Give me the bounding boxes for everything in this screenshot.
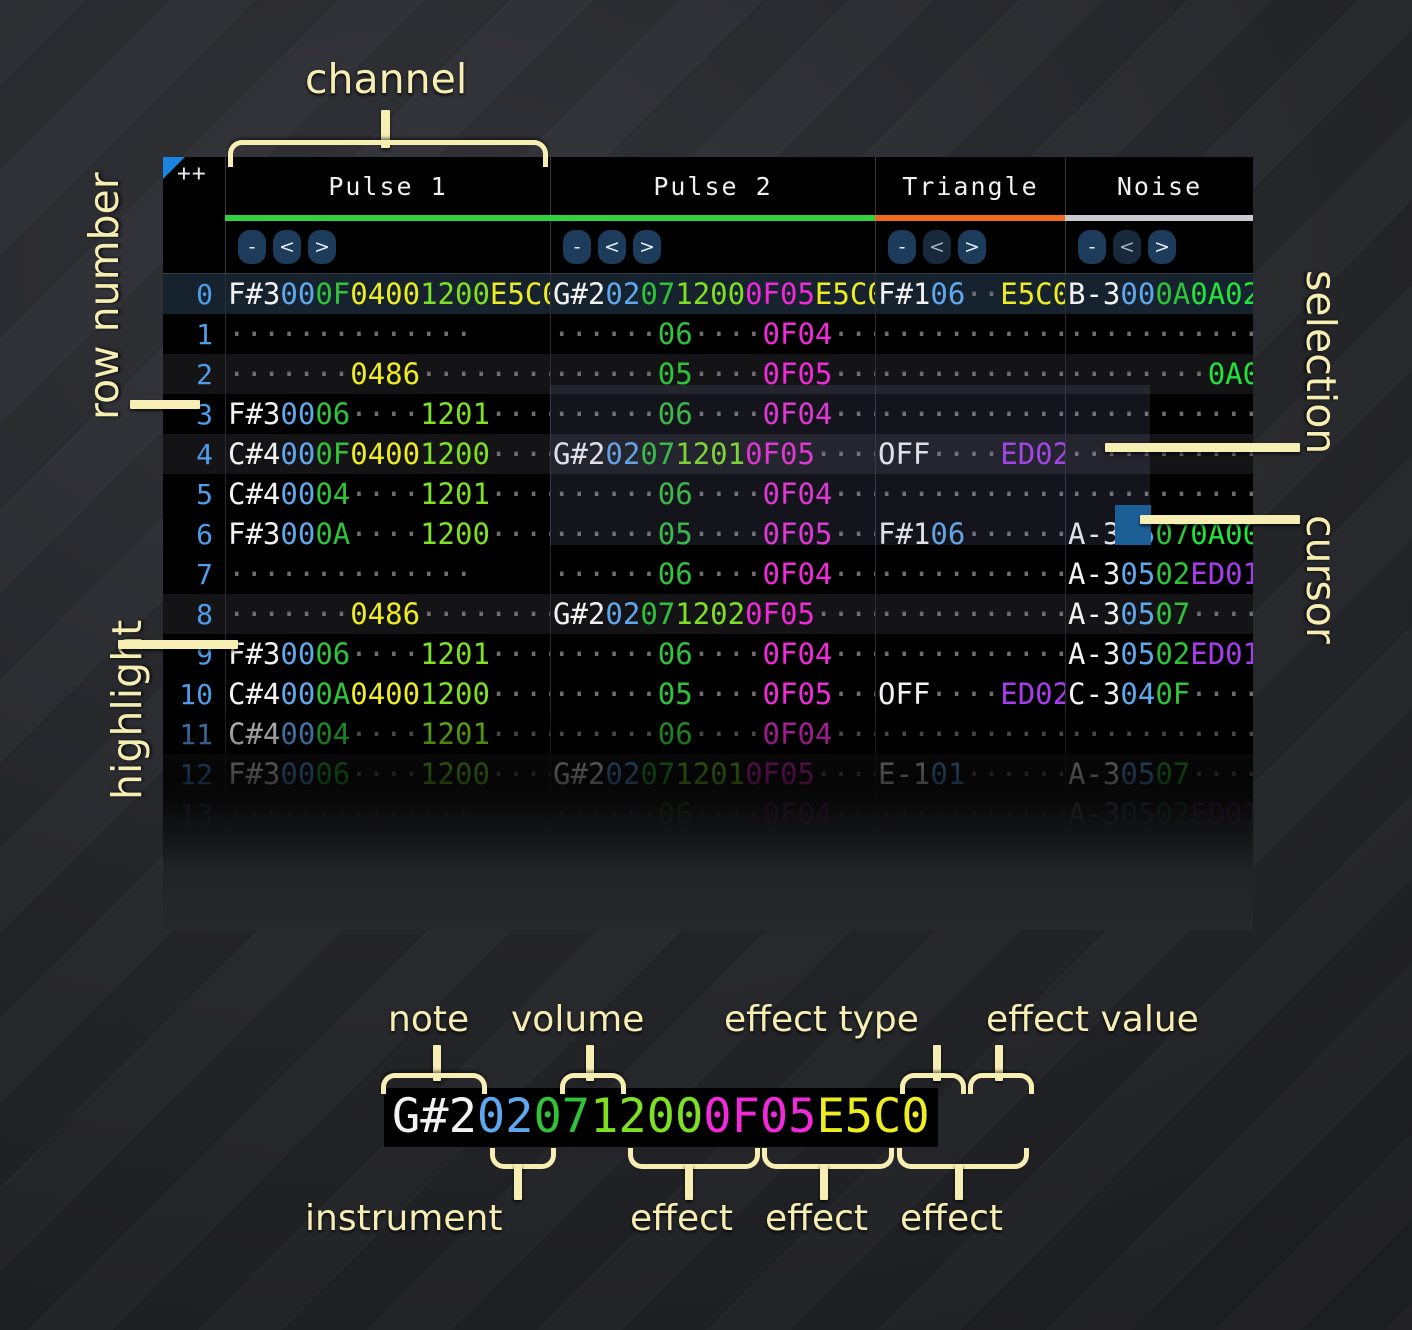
pattern-row[interactable]: 11C#40004····1201··········06····0F04···… xyxy=(163,714,1253,754)
pattern-token: 06 xyxy=(658,797,693,831)
pattern-token: A-3 xyxy=(1068,837,1120,871)
pattern-token: ······ xyxy=(553,797,658,831)
pattern-token: 04 xyxy=(315,717,350,751)
pattern-token: 0F05 xyxy=(763,357,833,391)
pattern-token: ···· xyxy=(490,677,550,711)
pattern-row[interactable]: 1····················06····0F04·········… xyxy=(163,314,1253,354)
pattern-token: ···· xyxy=(930,437,1000,471)
pattern-cell-pulse1[interactable]: ·············· xyxy=(225,794,550,834)
pattern-token: ···· xyxy=(832,637,875,671)
pattern-cell-triangle[interactable]: F#106··E5C0 xyxy=(875,274,1065,314)
pattern-token: ········· xyxy=(420,597,550,631)
pattern-token: ············· xyxy=(878,637,1065,671)
next-button-triangle[interactable]: > xyxy=(958,230,986,264)
pattern-token: ···· xyxy=(490,837,550,871)
tracker-pattern-editor[interactable]: ++ Pulse 1 Pulse 2 Triangle Noise - < > … xyxy=(163,157,1253,927)
pattern-token: 0F04 xyxy=(763,717,833,751)
pattern-cell-triangle[interactable]: ············· xyxy=(875,354,1065,394)
pattern-token: ···· xyxy=(693,877,763,911)
pattern-cell-pulse2[interactable]: G#2020712010F05···· xyxy=(550,754,875,794)
pattern-cell-pulse2[interactable]: G#2020712020F05···· xyxy=(550,594,875,634)
pattern-cell-pulse2[interactable]: ······06····0F04···· xyxy=(550,474,875,514)
pattern-token: 1201 xyxy=(420,837,490,871)
pattern-token: ED03 xyxy=(350,877,420,911)
pattern-token: 1201 xyxy=(420,477,490,511)
pattern-token: F#3 xyxy=(228,277,280,311)
pattern-token: 1202 xyxy=(675,597,745,631)
pattern-token: ···· xyxy=(832,397,875,431)
pattern-row[interactable]: 8·······0486·········G#2020712020F05····… xyxy=(163,594,1253,634)
pattern-token: 0A xyxy=(315,517,350,551)
pattern-token: 0F04 xyxy=(763,797,833,831)
pattern-cell-noise[interactable]: B-3000A0A02 xyxy=(1065,274,1253,314)
row-number: 6 xyxy=(163,518,225,551)
brace-note xyxy=(381,1073,487,1094)
pattern-token: 0F05 xyxy=(745,757,815,791)
pattern-cell-pulse1[interactable]: F#3000A····1200···· xyxy=(225,514,550,554)
pattern-token: ···· xyxy=(832,317,875,351)
pattern-token: 0F04 xyxy=(763,477,833,511)
pattern-row[interactable]: 7····················06····0F04·········… xyxy=(163,554,1253,594)
pattern-token: 05 xyxy=(658,837,693,871)
pattern-token: ···· xyxy=(1190,677,1253,711)
pattern-token: 0F04 xyxy=(763,397,833,431)
pattern-cell-noise[interactable]: A-30507···· xyxy=(1065,754,1253,794)
pattern-cell-triangle[interactable]: ············· xyxy=(875,834,1065,874)
pattern-token: 1201 xyxy=(675,757,745,791)
pattern-cell-noise[interactable]: A-30502ED01 xyxy=(1065,874,1253,914)
mute-button-noise[interactable]: - xyxy=(1078,230,1106,264)
pattern-token: A-3 xyxy=(1068,757,1120,791)
pattern-token: ············· xyxy=(878,357,1065,391)
pattern-token: ······ xyxy=(553,517,658,551)
pattern-cell-pulse1[interactable]: ·······0486········· xyxy=(225,594,550,634)
pattern-cell-triangle[interactable]: ············· xyxy=(875,554,1065,594)
pattern-token: ············· xyxy=(878,797,1065,831)
row-number: 0 xyxy=(163,278,225,311)
pattern-token: A-3 xyxy=(1068,517,1120,551)
pattern-token: 1200 xyxy=(420,757,490,791)
brace-channel xyxy=(228,140,548,167)
pattern-token: ·· xyxy=(965,277,1000,311)
pattern-cell-noise[interactable]: ············· xyxy=(1065,714,1253,754)
pattern-token: 1201 xyxy=(675,437,745,471)
pattern-cell-pulse1[interactable]: C-4000CED031200···· xyxy=(225,874,550,914)
brace-effect-value xyxy=(968,1073,1034,1094)
next-button-noise[interactable]: > xyxy=(1148,230,1176,264)
pattern-cell-pulse1[interactable]: ·············· xyxy=(225,554,550,594)
pattern-token: 0486 xyxy=(350,837,420,871)
pattern-token: ···· xyxy=(693,477,763,511)
pattern-token: ···· xyxy=(350,397,420,431)
pattern-token: ···· xyxy=(490,637,550,671)
pattern-token: 06 xyxy=(658,557,693,591)
pattern-token: 1200 xyxy=(420,677,490,711)
pattern-token: F#3 xyxy=(228,837,280,871)
legend-row-example: G#2020712000F05E5C0 xyxy=(384,1088,938,1147)
pattern-cell-triangle[interactable]: E-101········ xyxy=(875,754,1065,794)
pattern-token: ···· xyxy=(693,637,763,671)
pattern-token: 1201 xyxy=(420,717,490,751)
pattern-token: ············· xyxy=(878,597,1065,631)
pattern-cell-noise[interactable]: C-3040F···· xyxy=(1065,674,1253,714)
leader-instrument xyxy=(514,1164,522,1200)
pattern-cell-pulse1[interactable]: F#30006····1201···· xyxy=(225,634,550,674)
pattern-cell-pulse2[interactable]: ······06····0F04···· xyxy=(550,554,875,594)
pattern-cell-pulse2[interactable]: G#2020712010F05···· xyxy=(550,434,875,474)
pattern-token: ············· xyxy=(878,317,1065,351)
pattern-token: F#3 xyxy=(228,517,280,551)
pattern-token: ···· xyxy=(1190,837,1253,871)
pattern-token: ···· xyxy=(350,517,420,551)
pattern-token: 02 xyxy=(1155,557,1190,591)
pattern-cell-triangle[interactable]: ············· xyxy=(875,634,1065,674)
pattern-cell-noise[interactable]: A-30502ED01 xyxy=(1065,554,1253,594)
pattern-cell-triangle[interactable]: OFF····ED02 xyxy=(875,874,1065,914)
pattern-token: ········ xyxy=(965,757,1065,791)
pattern-cell-triangle[interactable]: ············· xyxy=(875,594,1065,634)
channel-header-triangle[interactable]: Triangle xyxy=(875,157,1065,215)
pattern-token: ······ xyxy=(553,637,658,671)
pattern-row[interactable]: 5C#40004····1201··········06····0F04····… xyxy=(163,474,1253,514)
brace-effect-type xyxy=(900,1073,966,1094)
pattern-token: 05 xyxy=(1120,597,1155,631)
pattern-token: 1200 xyxy=(420,277,490,311)
pattern-cell-noise[interactable]: ········0A01 xyxy=(1065,354,1253,394)
pattern-token: ···· xyxy=(693,357,763,391)
pattern-token: ······ xyxy=(553,477,658,511)
pattern-token: 02 xyxy=(1155,877,1190,911)
pattern-token: 05 xyxy=(1120,637,1155,671)
pattern-token: 0A01 xyxy=(1208,357,1253,391)
pattern-token: ············· xyxy=(878,477,1065,511)
pattern-token: ········ xyxy=(1068,357,1208,391)
channel-buttons-noise: - < > xyxy=(1065,221,1253,273)
pattern-cell-pulse1[interactable]: C#40004····1201···· xyxy=(225,714,550,754)
pattern-token: ···· xyxy=(815,757,875,791)
pattern-token: 07 xyxy=(1155,757,1190,791)
pattern-token: 07 xyxy=(640,277,675,311)
pattern-token: A-3 xyxy=(1068,797,1120,831)
pattern-token: 0F xyxy=(1155,677,1190,711)
pattern-row[interactable]: 10C#4000A04001200··········05····0F05···… xyxy=(163,674,1253,714)
pattern-cell-noise[interactable]: A-30507···· xyxy=(1065,594,1253,634)
leader-effect-c xyxy=(955,1164,963,1200)
pattern-token: 05 xyxy=(1120,877,1155,911)
pattern-cell-pulse2[interactable]: ······06····0F04···· xyxy=(550,394,875,434)
pattern-token: ···· xyxy=(490,437,550,471)
pattern-cell-triangle[interactable]: ············· xyxy=(875,314,1065,354)
pattern-token: 02 xyxy=(1155,797,1190,831)
pattern-token: ···· xyxy=(350,717,420,751)
pattern-cell-noise[interactable]: ············· xyxy=(1065,394,1253,434)
row-number: 7 xyxy=(163,558,225,591)
pattern-token: 0F05 xyxy=(763,677,833,711)
pattern-token: 06 xyxy=(315,397,350,431)
pattern-token: 00 xyxy=(280,757,315,791)
pattern-cell-noise[interactable]: ············· xyxy=(1065,434,1253,474)
pattern-cell-noise[interactable]: A-30502ED01 xyxy=(1065,634,1253,674)
row-number: 1 xyxy=(163,318,225,351)
pattern-cell-pulse2[interactable]: ······05····0F05···· xyxy=(550,514,875,554)
pattern-token: 0F05 xyxy=(745,277,815,311)
pattern-token: 02 xyxy=(315,837,350,871)
pattern-token: 00 xyxy=(1120,277,1155,311)
pattern-token: ············· xyxy=(1068,477,1253,511)
pattern-token: OFF xyxy=(878,437,930,471)
legend-token: G#2 xyxy=(392,1089,477,1144)
row-number: 8 xyxy=(163,598,225,631)
pattern-token: 00 xyxy=(280,517,315,551)
leader-highlight xyxy=(118,640,238,649)
prev-button-pulse-1[interactable]: < xyxy=(273,230,301,264)
pattern-token: 06 xyxy=(315,637,350,671)
next-button-pulse-1[interactable]: > xyxy=(308,230,336,264)
leader-selection xyxy=(1105,443,1300,452)
pattern-token: ······· xyxy=(228,357,350,391)
pattern-token: ···· xyxy=(815,437,875,471)
pattern-cell-pulse1[interactable]: F#30006····1201···· xyxy=(225,394,550,434)
row-number: 15 xyxy=(163,878,225,911)
pattern-token: 04 xyxy=(1120,677,1155,711)
pattern-token: ···· xyxy=(490,477,550,511)
pattern-cell-triangle[interactable]: OFF····ED02 xyxy=(875,674,1065,714)
next-button-pulse-2[interactable]: > xyxy=(633,230,661,264)
pattern-token: ED01 xyxy=(1190,797,1253,831)
mute-button-pulse-1[interactable]: - xyxy=(238,230,266,264)
pattern-token: ···· xyxy=(832,717,875,751)
pattern-token: E5C0 xyxy=(815,277,875,311)
pattern-token: 02 xyxy=(605,277,640,311)
pattern-cell-noise[interactable]: ············· xyxy=(1065,474,1253,514)
pattern-token: 0F xyxy=(315,437,350,471)
prev-button-triangle[interactable]: < xyxy=(923,230,951,264)
pattern-token: ······· xyxy=(228,597,350,631)
pattern-token: ···· xyxy=(832,477,875,511)
channel-buttons-triangle: - < > xyxy=(875,221,1065,273)
pattern-token: ···· xyxy=(693,557,763,591)
pattern-token: 00 xyxy=(280,717,315,751)
pattern-token: 1200 xyxy=(420,437,490,471)
button-strip-gutter xyxy=(163,221,225,273)
pattern-cell-triangle[interactable]: F#106········ xyxy=(875,514,1065,554)
pattern-token: 02 xyxy=(605,437,640,471)
pattern-token: 02 xyxy=(605,597,640,631)
pattern-token: C-4 xyxy=(228,877,280,911)
pattern-token: ······ xyxy=(553,397,658,431)
pattern-row[interactable]: 2·······0486···············05····0F05···… xyxy=(163,354,1253,394)
channel-header-pulse-2[interactable]: Pulse 2 xyxy=(550,157,875,215)
prev-button-pulse-2[interactable]: < xyxy=(598,230,626,264)
pattern-cell-pulse2[interactable]: ······06····0F04···· xyxy=(550,714,875,754)
pattern-grid[interactable]: 0F#3000F04001200E5C0G#2020712000F05E5C0F… xyxy=(163,274,1253,927)
pattern-cell-pulse1[interactable]: C#4000A04001200···· xyxy=(225,674,550,714)
mute-button-triangle[interactable]: - xyxy=(888,230,916,264)
pattern-token: 0400 xyxy=(350,437,420,471)
pattern-token: ······ xyxy=(553,877,658,911)
pattern-token: ED02 xyxy=(1000,437,1065,471)
mute-button-pulse-2[interactable]: - xyxy=(563,230,591,264)
pattern-token: ······ xyxy=(553,677,658,711)
pattern-token: G#2 xyxy=(553,757,605,791)
pattern-token: 1201 xyxy=(420,637,490,671)
pattern-cell-triangle[interactable]: OFF····ED02 xyxy=(875,434,1065,474)
pattern-cell-pulse1[interactable]: F#3000F04001200E5C0 xyxy=(225,274,550,314)
pattern-token: 0486 xyxy=(350,597,420,631)
pattern-cell-noise[interactable]: ············· xyxy=(1065,314,1253,354)
pattern-token: ···· xyxy=(930,877,1000,911)
pattern-cell-triangle[interactable]: ············· xyxy=(875,714,1065,754)
pattern-token: 06 xyxy=(315,757,350,791)
pattern-token: 00 xyxy=(280,437,315,471)
row-number: 5 xyxy=(163,478,225,511)
pattern-token: 0A02 xyxy=(1190,277,1253,311)
channel-buttons-pulse-2: - < > xyxy=(550,221,875,273)
pattern-token: 05 xyxy=(658,517,693,551)
pattern-cell-noise[interactable]: A-30502ED01 xyxy=(1065,794,1253,834)
pattern-token: 05 xyxy=(1120,837,1155,871)
pattern-token: A-3 xyxy=(1068,877,1120,911)
pattern-cell-pulse2[interactable]: G#2020712000F05E5C0 xyxy=(550,274,875,314)
pattern-token: ···· xyxy=(1190,757,1253,791)
channel-button-strip: - < > - < > - < > - < > xyxy=(163,221,1253,274)
pattern-token: ···· xyxy=(693,397,763,431)
pattern-token: 02 xyxy=(605,757,640,791)
pattern-token: 0A xyxy=(1155,277,1190,311)
prev-button-noise[interactable]: < xyxy=(1113,230,1141,264)
legend-token: 0F05 xyxy=(703,1089,816,1144)
row-number: 4 xyxy=(163,438,225,471)
pattern-row[interactable]: 9F#30006····1201··········06····0F04····… xyxy=(163,634,1253,674)
pattern-row[interactable]: 13····················06····0F04········… xyxy=(163,794,1253,834)
pattern-row[interactable]: 14F#3000204861201··········05····0F05···… xyxy=(163,834,1253,874)
pattern-row[interactable]: 4C#4000F04001200····G#2020712010F05····O… xyxy=(163,434,1253,474)
pattern-cell-pulse1[interactable]: F#3000204861201···· xyxy=(225,834,550,874)
pattern-token: ············· xyxy=(878,717,1065,751)
pattern-cell-pulse2[interactable]: ······06····0F04···· xyxy=(550,634,875,674)
pattern-token: ············· xyxy=(1068,717,1253,751)
pattern-token: E5C0 xyxy=(1000,277,1065,311)
pattern-token: 0C xyxy=(315,877,350,911)
brace-effect-c xyxy=(897,1148,1029,1169)
pattern-token: 04 xyxy=(315,477,350,511)
pattern-cell-pulse2[interactable]: ······05····0F05···· xyxy=(550,354,875,394)
pattern-token: 07 xyxy=(1155,597,1190,631)
pattern-token: ······ xyxy=(553,837,658,871)
pattern-token: C-3 xyxy=(1068,677,1120,711)
pattern-token: ···· xyxy=(832,557,875,591)
pattern-row[interactable]: 12F#30006····1200····G#2020712010F05····… xyxy=(163,754,1253,794)
pattern-token: 1200 xyxy=(675,277,745,311)
channel-header-noise[interactable]: Noise xyxy=(1065,157,1253,215)
pattern-token: C#4 xyxy=(228,477,280,511)
annotation-effect-b: effect xyxy=(765,1198,868,1239)
pattern-token: F#1 xyxy=(878,277,930,311)
row-number: 14 xyxy=(163,838,225,871)
pattern-cell-triangle[interactable]: ············· xyxy=(875,794,1065,834)
pattern-token: ···· xyxy=(693,517,763,551)
annotation-volume: volume xyxy=(511,999,644,1040)
row-number: 11 xyxy=(163,718,225,751)
pattern-token: 05 xyxy=(658,357,693,391)
pattern-token: OFF xyxy=(878,677,930,711)
pattern-token: ···· xyxy=(350,757,420,791)
leader-cursor xyxy=(1140,515,1300,524)
row-number: 12 xyxy=(163,758,225,791)
pattern-cell-pulse2[interactable]: ······06····0F04···· xyxy=(550,874,875,914)
pattern-token: 07 xyxy=(640,437,675,471)
pattern-token: ···· xyxy=(832,837,875,871)
pattern-token: ·············· xyxy=(228,797,472,831)
pattern-token: ED01 xyxy=(1190,877,1253,911)
pattern-token: A-3 xyxy=(1068,597,1120,631)
pattern-cell-pulse1[interactable]: C#40004····1201···· xyxy=(225,474,550,514)
pattern-cell-triangle[interactable]: ············· xyxy=(875,474,1065,514)
row-number: 2 xyxy=(163,358,225,391)
legend-token: E5C0 xyxy=(816,1089,929,1144)
pattern-token: ···· xyxy=(815,597,875,631)
pattern-token: ···· xyxy=(693,837,763,871)
brace-effect-a xyxy=(628,1148,760,1169)
leader-row-number xyxy=(130,400,200,409)
pattern-token: ···· xyxy=(490,717,550,751)
pattern-token: 07 xyxy=(640,757,675,791)
pattern-cell-noise[interactable]: A-30507···· xyxy=(1065,834,1253,874)
pattern-token: 1201 xyxy=(420,397,490,431)
annotation-channel: channel xyxy=(305,55,467,103)
pattern-token: OFF xyxy=(878,877,930,911)
pattern-cell-pulse2[interactable]: ······06····0F04···· xyxy=(550,794,875,834)
pattern-token: 0F05 xyxy=(745,597,815,631)
annotation-effect-value: effect value xyxy=(986,999,1199,1040)
pattern-token: 0F xyxy=(315,277,350,311)
brace-volume xyxy=(560,1073,626,1094)
pattern-cell-pulse1[interactable]: C#4000F04001200···· xyxy=(225,434,550,474)
pattern-cell-pulse2[interactable]: ······06····0F04···· xyxy=(550,314,875,354)
pattern-row[interactable]: 3F#30006····1201··········06····0F04····… xyxy=(163,394,1253,434)
pattern-token: ···· xyxy=(693,677,763,711)
pattern-row[interactable]: 6F#3000A····1200··········05····0F05····… xyxy=(163,514,1253,554)
pattern-token: 00 xyxy=(280,837,315,871)
pattern-token: 07 xyxy=(640,597,675,631)
pattern-token: 05 xyxy=(1120,757,1155,791)
pattern-token: 02 xyxy=(1155,637,1190,671)
pattern-token: B-3 xyxy=(1068,277,1120,311)
pattern-cell-pulse1[interactable]: F#30006····1200···· xyxy=(225,754,550,794)
pattern-token: 05 xyxy=(1120,557,1155,591)
pattern-cell-pulse1[interactable]: ·······0486········· xyxy=(225,354,550,394)
pattern-token: ···· xyxy=(490,397,550,431)
pattern-token: ···· xyxy=(693,717,763,751)
pattern-token: ············· xyxy=(878,837,1065,871)
pattern-token: ···· xyxy=(693,317,763,351)
pattern-token: C#4 xyxy=(228,717,280,751)
pattern-token: 06 xyxy=(930,277,965,311)
pattern-token: F#3 xyxy=(228,397,280,431)
pattern-cell-pulse2[interactable]: ······05····0F05···· xyxy=(550,674,875,714)
pattern-token: ED01 xyxy=(1190,557,1253,591)
pattern-token: ············· xyxy=(878,397,1065,431)
annotation-effect-type: effect type xyxy=(724,999,919,1040)
pattern-cell-pulse2[interactable]: ······05····0F05···· xyxy=(550,834,875,874)
corner-marker-icon xyxy=(163,157,185,179)
pattern-cell-triangle[interactable]: ············· xyxy=(875,394,1065,434)
pattern-cell-pulse1[interactable]: ·············· xyxy=(225,314,550,354)
pattern-token: 06 xyxy=(658,717,693,751)
annotation-note: note xyxy=(388,999,469,1040)
pattern-token: ········· xyxy=(420,357,550,391)
pattern-row[interactable]: 0F#3000F04001200E5C0G#2020712000F05E5C0F… xyxy=(163,274,1253,314)
